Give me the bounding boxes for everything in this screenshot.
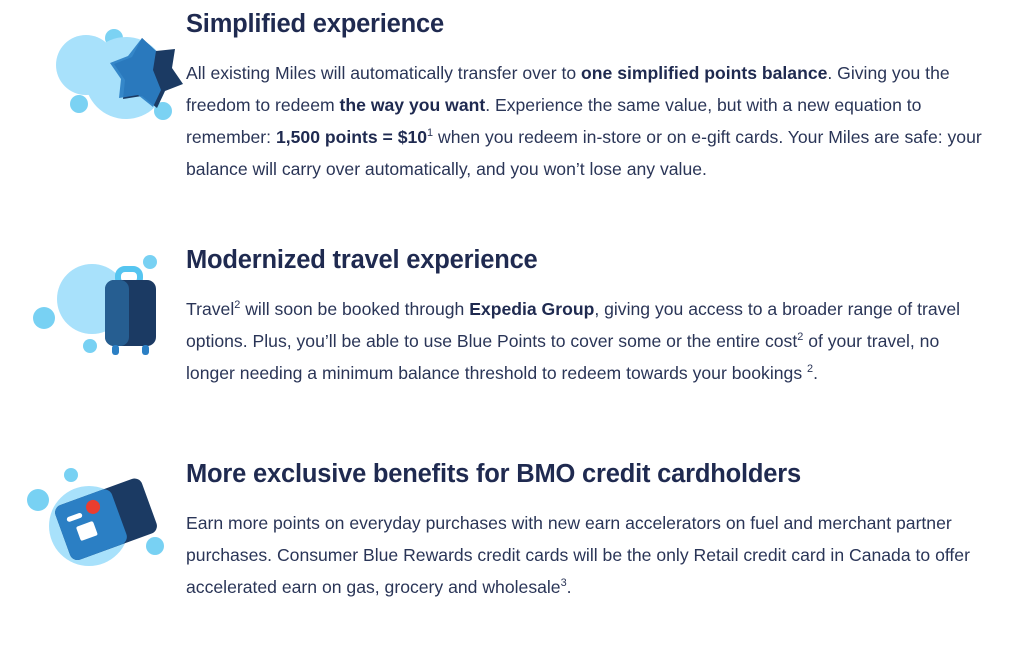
emphasis-text: 1,500 points = $10: [276, 127, 427, 147]
footnote-marker: 2: [807, 363, 813, 375]
feature-body: More exclusive benefits for BMO credit c…: [186, 458, 1006, 603]
star-bubbles-icon: [26, 8, 186, 128]
feature-block-modernized-travel-experience: Modernized travel experience Travel2 wil…: [26, 244, 1006, 389]
emphasis-text: one simplified points balance: [581, 63, 827, 83]
feature-paragraph: All existing Miles will automatically tr…: [186, 57, 986, 185]
feature-icon-container: [26, 244, 186, 364]
footnote-marker: 1: [427, 127, 433, 139]
emphasis-text: Expedia Group: [469, 299, 594, 319]
feature-list-page: Simplified experience All existing Miles…: [0, 0, 1024, 664]
emphasis-text: the way you want: [340, 95, 486, 115]
feature-icon-container: [26, 458, 186, 578]
feature-body: Modernized travel experience Travel2 wil…: [186, 244, 1006, 389]
feature-title: Modernized travel experience: [186, 246, 1006, 275]
feature-title: Simplified experience: [186, 10, 1006, 39]
feature-icon-container: [26, 8, 186, 128]
footnote-marker: 3: [561, 577, 567, 589]
feature-paragraph: Earn more points on everyday purchases w…: [186, 507, 986, 603]
feature-title: More exclusive benefits for BMO credit c…: [186, 460, 1006, 489]
footnote-marker: 2: [797, 331, 803, 343]
feature-paragraph: Travel2 will soon be booked through Expe…: [186, 293, 986, 389]
footnote-marker: 2: [234, 299, 240, 311]
credit-card-bubbles-icon: [26, 458, 186, 578]
feature-body: Simplified experience All existing Miles…: [186, 8, 1006, 185]
feature-block-exclusive-benefits: More exclusive benefits for BMO credit c…: [26, 458, 1006, 603]
suitcase-bubbles-icon: [26, 244, 186, 364]
feature-block-simplified-experience: Simplified experience All existing Miles…: [26, 8, 1006, 185]
